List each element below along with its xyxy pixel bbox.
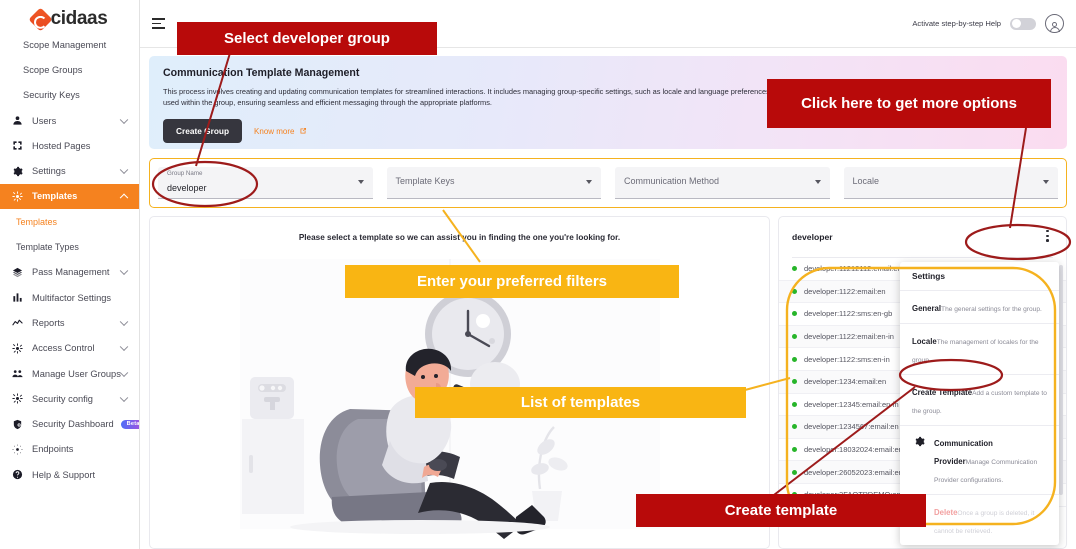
settings-menu-item-locale[interactable]: LocaleThe management of locales for the … [900,324,1059,375]
sidebar-item-label: Hosted Pages [25,141,90,151]
locale-placeholder: Locale [853,176,880,186]
communication-method-select[interactable]: Communication Method [615,167,830,199]
chevron-down-icon [1043,180,1049,184]
create-group-button[interactable]: Create Group [163,119,242,143]
know-more-link[interactable]: Know more [254,127,306,136]
sidebar-item-help-support[interactable]: Help & Support [0,462,139,487]
sidebar-item-security-keys[interactable]: Security Keys [0,83,139,108]
template-name: developer:1122:sms:en-in [804,355,890,364]
annotation-select-developer-group: Select developer group [177,22,437,55]
sidebar-item-security-dashboard[interactable]: Security DashboardBeta [0,411,139,436]
chevron-down-icon [120,115,128,123]
sidebar-item-label: Pass Management [25,267,110,277]
sidebar-nav: Scope ManagementScope GroupsSecurity Key… [0,32,139,487]
locale-select[interactable]: Locale [844,167,1059,199]
annotation-click-more-options: Click here to get more options [767,79,1051,128]
user-group-icon [9,368,25,379]
cidaas-diamond-logo [28,7,52,31]
menu-item-title: Delete [934,508,957,517]
access-control-icon [9,343,25,354]
group-name-label: Group Name [167,171,351,178]
template-name: developer:1122:email:en [804,287,886,296]
chevron-down-icon [586,180,592,184]
know-more-label: Know more [254,127,294,136]
settings-menu-item-create-template[interactable]: Create TemplateAdd a custom template to … [900,375,1059,426]
menu-item-description: The general settings for the group. [941,306,1042,313]
sidebar-item-pass-management[interactable]: Pass Management [0,260,139,285]
status-dot [792,470,797,475]
sidebar-item-access-control[interactable]: Access Control [0,336,139,361]
template-name: developer:1234567:email:en [804,422,899,431]
sidebar-item-label: Access Control [25,343,95,353]
sidebar-item-label: Templates [9,217,57,227]
list-scrollbar[interactable] [1059,265,1063,495]
settings-menu-title: Settings [900,262,1059,291]
sidebar-item-manage-user-groups[interactable]: Manage User Groups [0,361,139,386]
status-dot [792,402,797,407]
template-name: developer:18032024:email:en [804,445,903,454]
sidebar-item-label: Scope Management [9,40,106,50]
sidebar-item-label: Security config [25,394,93,404]
gear-icon [9,166,25,177]
select-template-hint: Please select a template so we can assis… [150,217,769,242]
sidebar-item-label: Multifactor Settings [25,293,111,303]
layers-icon [9,267,25,278]
beta-badge: Beta [121,420,140,429]
sidebar-item-label: Scope Groups [9,65,82,75]
sidebar-item-label: Settings [25,166,66,176]
sidebar-item-scope-management[interactable]: Scope Management [0,32,139,57]
user-icon [9,115,25,126]
status-dot [792,266,797,271]
status-dot [792,447,797,452]
chevron-down-icon [120,166,128,174]
template-name: developer:12345:email:en-in [804,400,899,409]
templates-icon [9,191,25,202]
menu-item-title: General [912,304,941,313]
chevron-up-icon [120,194,128,202]
sidebar-item-label: Template Types [9,242,79,252]
list-panel-header: developer [779,217,1066,257]
hamburger-icon[interactable] [152,18,165,32]
gear-icon [912,433,926,447]
status-dot [792,289,797,294]
chevron-down-icon [120,343,128,351]
communication-method-placeholder: Communication Method [624,176,719,186]
topbar-actions: Activate step-by-step Help [912,14,1064,33]
sidebar-item-label: Help & Support [25,470,95,480]
hosted-pages-icon [9,140,25,151]
template-name: developer:11212112:email:en [804,264,902,273]
sidebar-item-hosted-pages[interactable]: Hosted Pages [0,133,139,158]
template-name: developer:26052023:email:en [804,468,903,477]
sidebar-item-templates[interactable]: Templates [0,209,139,234]
sidebar-item-label: Reports [25,318,65,328]
chevron-down-icon [120,368,128,376]
step-by-step-help-toggle[interactable] [1010,18,1036,30]
sidebar-item-reports[interactable]: Reports [0,310,139,335]
line-chart-icon [9,317,25,328]
step-by-step-help-label: Activate step-by-step Help [912,19,1001,28]
sidebar-item-template-types[interactable]: Template Types [0,234,139,259]
sidebar-item-settings[interactable]: Settings [0,158,139,183]
sidebar-item-endpoints[interactable]: Endpoints [0,437,139,462]
annotation-list-of-templates: List of templates [415,387,746,418]
settings-menu-item-general[interactable]: GeneralThe general settings for the grou… [900,291,1059,324]
filter-bar: Group Name developer Template Keys Commu… [149,158,1067,208]
sidebar-item-label: Endpoints [25,444,73,454]
annotation-enter-preferred-filters: Enter your preferred filters [345,265,679,298]
shield-bug-icon [9,419,25,430]
external-link-icon [299,127,307,135]
bar-chart-icon [9,292,25,303]
group-name-select[interactable]: Group Name developer [158,167,373,199]
sidebar: cidaas Scope ManagementScope GroupsSecur… [0,0,140,549]
brand-name: cidaas [51,8,108,30]
brand-logo[interactable]: cidaas [0,0,139,32]
status-dot [792,334,797,339]
sidebar-item-label: Manage User Groups [25,369,121,379]
user-avatar-icon[interactable] [1045,14,1064,33]
help-icon [9,469,25,480]
status-dot [792,424,797,429]
sidebar-item-users[interactable]: Users [0,108,139,133]
template-name: developer:1122:email:en-in [804,332,894,341]
status-dot [792,357,797,362]
template-name: developer:1122:sms:en-gb [804,309,892,318]
sidebar-item-label: Security Keys [9,90,80,100]
menu-item-title: Locale [912,337,937,346]
sidebar-item-templates[interactable]: Templates [0,184,139,209]
more-vertical-icon[interactable] [1042,227,1053,247]
list-group-name: developer [792,232,833,242]
template-keys-select[interactable]: Template Keys [387,167,602,199]
sidebar-item-label: Users [25,116,56,126]
sidebar-item-scope-groups[interactable]: Scope Groups [0,57,139,82]
group-name-value: developer [167,183,207,193]
template-name: developer:1234:email:en [804,377,886,386]
menu-item-title: Create Template [912,388,972,397]
chevron-down-icon [815,180,821,184]
chevron-down-icon [120,393,128,401]
endpoints-icon [9,444,25,455]
banner-title: Communication Template Management [163,67,1053,79]
template-keys-placeholder: Template Keys [396,176,455,186]
chevron-down-icon [120,267,128,275]
sidebar-item-label: Security Dashboard [25,419,114,429]
sidebar-item-security-config[interactable]: Security config [0,386,139,411]
sidebar-item-multifactor-settings[interactable]: Multifactor Settings [0,285,139,310]
chevron-down-icon [358,180,364,184]
settings-menu-item-communication-provider[interactable]: Communication ProviderManage Communicati… [900,426,1059,495]
sidebar-item-label: Templates [25,191,77,201]
annotation-create-template: Create template [636,494,926,527]
status-dot [792,379,797,384]
security-config-icon [9,393,25,404]
chevron-down-icon [120,317,128,325]
status-dot [792,311,797,316]
